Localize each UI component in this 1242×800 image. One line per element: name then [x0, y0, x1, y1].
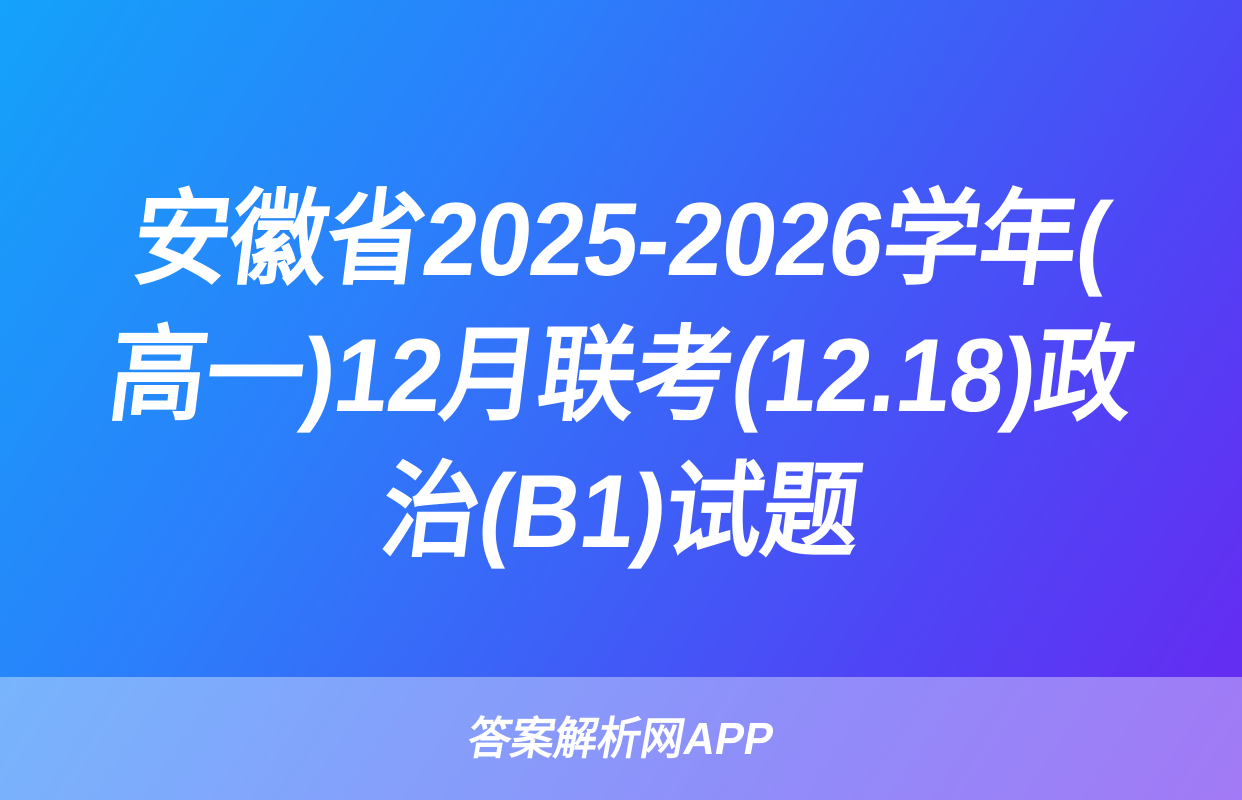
exam-title: 安徽省2025-2026学年( 高一)12月联考(12.18)政 治(B1)试题	[0, 172, 1242, 580]
brand-label: 答案解析网APP	[464, 713, 778, 765]
footer-brand-band: 答案解析网APP	[0, 677, 1242, 800]
poster-canvas: 安徽省2025-2026学年( 高一)12月联考(12.18)政 治(B1)试题…	[0, 0, 1242, 800]
exam-title-line-1: 安徽省2025-2026学年(	[78, 172, 1164, 308]
exam-title-line-3: 治(B1)试题	[78, 444, 1164, 580]
exam-title-line-2: 高一)12月联考(12.18)政	[78, 308, 1164, 444]
